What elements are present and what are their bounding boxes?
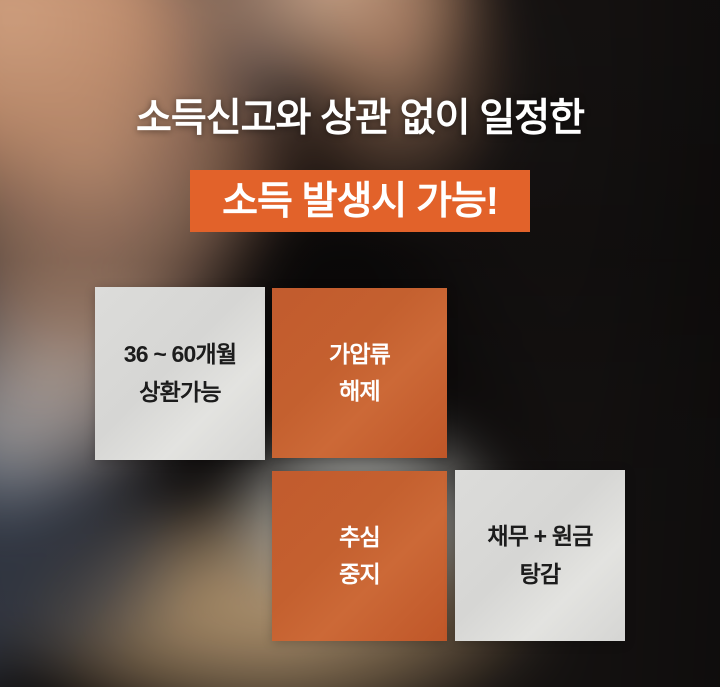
tile-repayment-term-line-2: 상환가능	[139, 374, 220, 411]
headline-line-1: 소득신고와 상관 없이 일정한	[0, 96, 720, 141]
tile-repayment-term-line-1: 36 ~ 60개월	[124, 336, 237, 373]
highlight-banner: 소득 발생시 가능!	[190, 170, 530, 232]
promo-banner-stage: 소득신고와 상관 없이 일정한 소득 발생시 가능! 36 ~ 60개월 상환가…	[0, 0, 720, 687]
tile-provisional-seizure-release: 가압류 해제	[272, 288, 447, 458]
highlight-banner-text: 소득 발생시 가능!	[222, 182, 498, 221]
tile-provisional-seizure-release-line-1: 가압류	[329, 336, 390, 373]
tile-repayment-term: 36 ~ 60개월 상환가능	[95, 287, 265, 460]
tile-collection-suspension-line-1: 추심	[339, 519, 380, 556]
tile-collection-suspension: 추심 중지	[272, 471, 447, 641]
tile-debt-principal-reduction: 채무 + 원금 탕감	[455, 470, 625, 641]
headline-block: 소득신고와 상관 없이 일정한	[0, 96, 720, 141]
tile-debt-principal-reduction-line-1: 채무 + 원금	[487, 518, 592, 555]
tile-debt-principal-reduction-line-2: 탕감	[520, 556, 561, 593]
tile-provisional-seizure-release-line-2: 해제	[339, 373, 380, 410]
tile-collection-suspension-line-2: 중지	[339, 556, 380, 593]
